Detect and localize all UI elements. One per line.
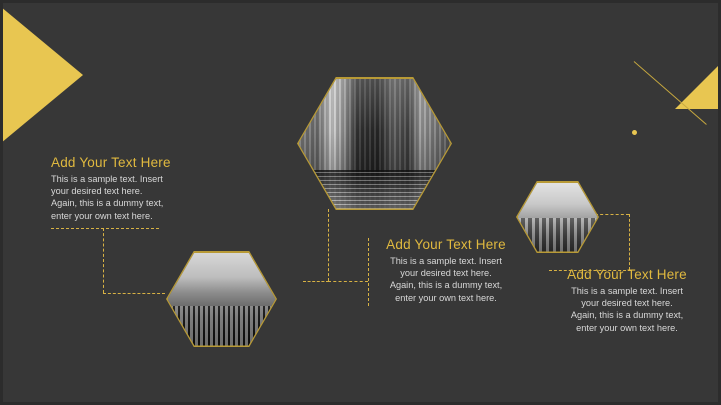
hexagon-image-right[interactable] [516,181,599,253]
text-block-left-body: This is a sample text. Insert your desir… [51,173,191,222]
connector-mid-v1 [328,209,329,281]
connector-left-h1 [51,228,159,229]
text-block-left-title: Add Your Text Here [51,155,191,170]
text-block-right-body: This is a sample text. Insert your desir… [552,285,702,334]
connector-right-h1 [595,214,629,215]
connector-mid-h1 [328,281,368,282]
text-block-middle-body: This is a sample text. Insert your desir… [375,255,517,304]
photo-bridge [518,183,598,252]
text-block-right-title: Add Your Text Here [552,267,702,282]
text-block-right[interactable]: Add Your Text Here This is a sample text… [552,267,702,334]
connector-right-v [629,214,630,270]
connector-left-h2 [103,293,165,294]
hexagon-image-top[interactable] [297,77,452,210]
text-block-middle[interactable]: Add Your Text Here This is a sample text… [375,237,517,304]
slide-canvas: Add Your Text Here This is a sample text… [0,0,721,405]
connector-left-v [103,228,104,293]
connector-mid-h0 [303,281,329,282]
hexagon-right-frame [518,183,598,252]
photo-city-day [168,253,276,346]
photo-city-night [299,79,451,209]
hexagon-top-frame [299,79,451,209]
connector-mid-v2 [368,238,369,306]
hexagon-bottom-left-frame [168,253,276,346]
text-block-left[interactable]: Add Your Text Here This is a sample text… [51,155,191,222]
text-block-middle-title: Add Your Text Here [375,237,517,252]
diagonal-dot-decoration [632,130,637,135]
hexagon-image-bottom-left[interactable] [166,251,277,347]
triangle-left-decoration [1,7,83,143]
